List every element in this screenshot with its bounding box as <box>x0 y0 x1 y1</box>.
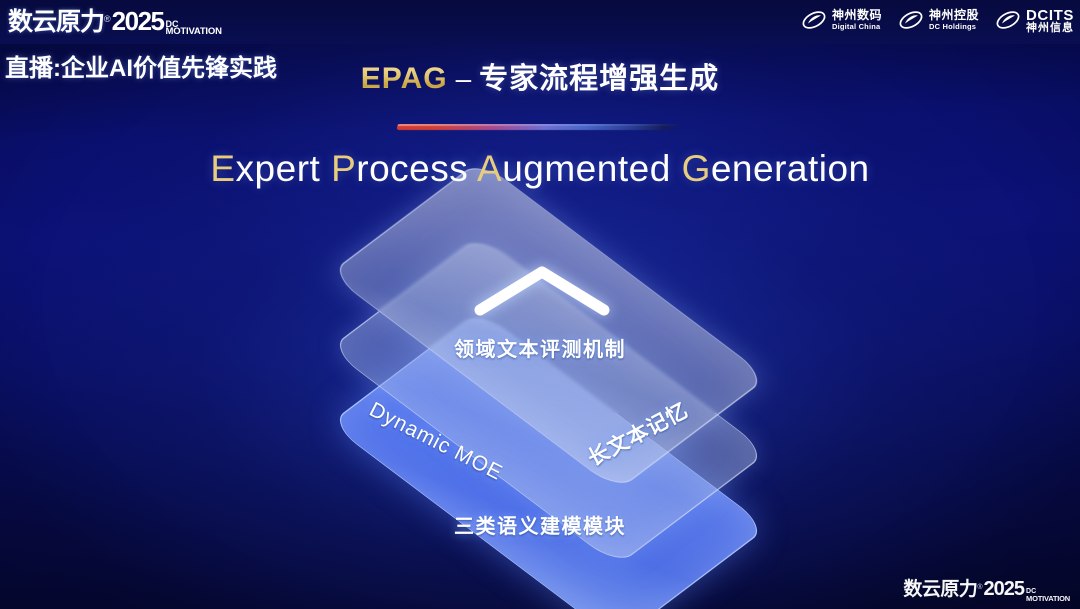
subtitle-initial-a: A <box>477 148 502 189</box>
chevron-up-icon <box>472 262 612 318</box>
partner-label: 神州控股 DC Holdings <box>929 9 979 31</box>
brand-logo-top-left: 数云原力 ® 2025 DC MOTIVATION <box>8 2 222 39</box>
brand-logo-chinese: 数云原力 <box>8 2 104 38</box>
watermark-dc-motivation: DC MOTIVATION <box>1026 589 1070 602</box>
subtitle-word-expert: xpert <box>236 148 321 189</box>
partner-logo-dc-holdings: 神州控股 DC Holdings <box>898 8 979 32</box>
diagram-label-top: 领域文本评测机制 <box>0 333 1080 362</box>
subtitle-initial-g: G <box>682 148 711 189</box>
brand-watermark-bottom-right: 数云原力 ® 2025 DC MOTIVATION <box>903 574 1070 604</box>
partner-name-cn: 神州数码 <box>832 9 882 21</box>
watermark-motivation-text: MOTIVATION <box>1026 596 1070 603</box>
partner-label: DCITS 神州信息 <box>1026 6 1074 34</box>
partner-name-cn: 神州控股 <box>929 9 979 21</box>
swoosh-icon <box>898 8 924 32</box>
presentation-slide: 数云原力 ® 2025 DC MOTIVATION 直播:企业AI价值先锋实践 … <box>0 0 1080 609</box>
slide-subtitle: Expert Process Augmented Generation <box>0 148 1080 190</box>
diagram-label-bottom: 三类语义建模模块 <box>0 510 1080 539</box>
watermark-chinese: 数云原力 <box>903 574 977 601</box>
partner-label: 神州数码 Digital China <box>832 9 882 31</box>
subtitle-word-generation: eneration <box>711 148 870 189</box>
watermark-registered-mark: ® <box>977 584 982 591</box>
subtitle-initial-p: P <box>331 148 356 189</box>
title-dash: – <box>456 63 472 94</box>
subtitle-word-process: rocess <box>356 148 468 189</box>
brand-motivation-text: MOTIVATION <box>166 28 222 36</box>
partner-logo-dcits: DCITS 神州信息 <box>995 6 1074 34</box>
watermark-year: 2025 <box>984 578 1025 601</box>
swoosh-icon <box>995 8 1021 32</box>
brand-logo-dc-motivation: DC MOTIVATION <box>166 20 222 36</box>
subtitle-word-augmented: ugmented <box>502 148 671 189</box>
partner-name-cn: 神州信息 <box>1026 23 1074 34</box>
live-stream-title: 直播:企业AI价值先锋实践 <box>5 48 277 83</box>
registered-mark: ® <box>104 14 111 24</box>
title-chinese: 专家流程增强生成 <box>479 63 719 95</box>
partner-logo-digital-china: 神州数码 Digital China <box>801 8 882 32</box>
partner-name-en: DCITS <box>1026 8 1074 23</box>
title-divider <box>396 124 682 130</box>
swoosh-icon <box>801 8 827 32</box>
partner-logo-group: 神州数码 Digital China 神州控股 DC Holdings DCIT… <box>801 5 1074 35</box>
title-acronym: EPAG <box>361 62 448 95</box>
brand-logo-year: 2025 <box>112 6 164 37</box>
subtitle-initial-e: E <box>210 148 235 189</box>
partner-name-en: Digital China <box>832 23 882 31</box>
partner-name-en: DC Holdings <box>929 23 979 31</box>
